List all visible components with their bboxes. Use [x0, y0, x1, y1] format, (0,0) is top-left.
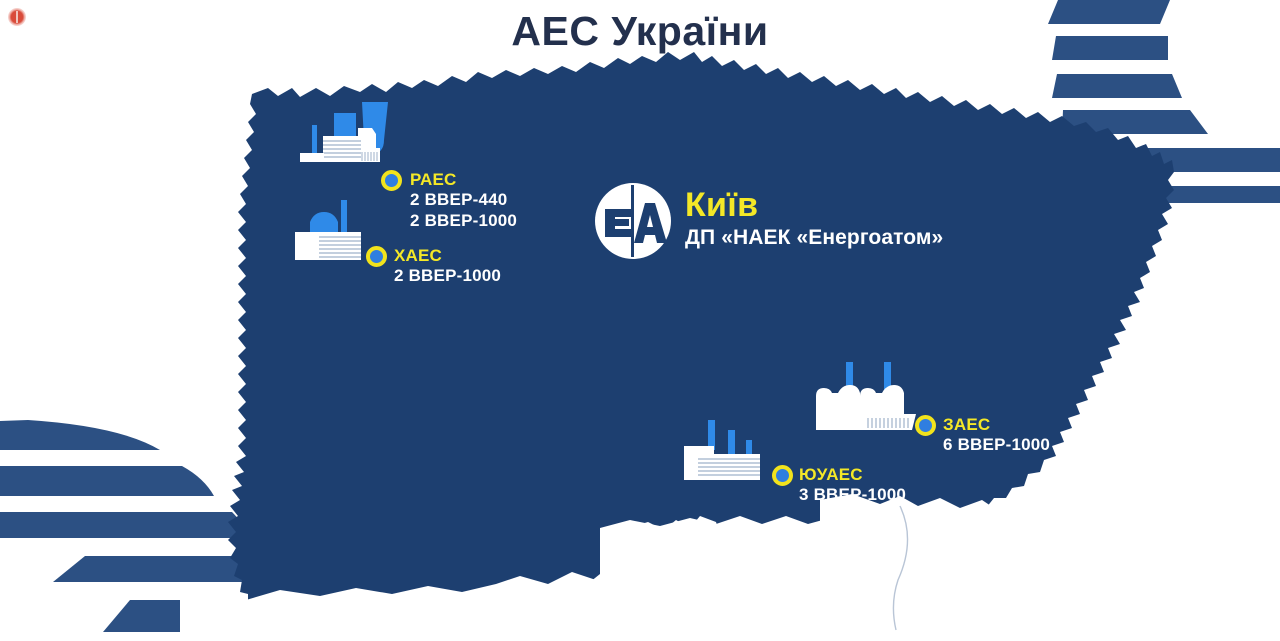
nuclear-plant-reactor-hall-icon: [292, 198, 372, 264]
plant-label-yuuaes: ЮУАЕС 3 ВВЕР-1000: [799, 465, 906, 505]
capital-name: Київ: [685, 187, 943, 223]
ukraine-map: [0, 0, 1280, 641]
plant-units-khaes-1: 2 ВВЕР-1000: [394, 265, 501, 286]
ukraine-map-svg: [0, 0, 1280, 641]
plant-units-raes-2: 2 ВВЕР-1000: [410, 210, 517, 231]
plant-name-raes: РАЕС: [410, 170, 517, 189]
plant-units-raes-1: 2 ВВЕР-440: [410, 189, 517, 210]
plant-units-yuuaes-1: 3 ВВЕР-1000: [799, 484, 906, 505]
plant-label-khaes: ХАЕС 2 ВВЕР-1000: [394, 246, 501, 286]
nuclear-plant-three-stacks-icon: [680, 418, 770, 486]
capital-block: Київ ДП «НАЕК «Енергоатом»: [593, 181, 943, 261]
energoatom-logo: [593, 181, 673, 261]
azov-sea-detail: [820, 494, 1280, 641]
plant-label-zaes: ЗАЕС 6 ВВЕР-1000: [943, 415, 1050, 455]
plant-label-raes: РАЕС 2 ВВЕР-440 2 ВВЕР-1000: [410, 170, 517, 231]
plant-units-zaes-1: 6 ВВЕР-1000: [943, 434, 1050, 455]
map-marker-yuuaes[interactable]: [772, 465, 793, 486]
capital-text: Київ ДП «НАЕК «Енергоатом»: [685, 181, 943, 251]
nuclear-plant-cooling-towers-icon: [296, 100, 392, 180]
nuclear-plant-twin-reactor-icon: [808, 360, 918, 436]
plant-name-zaes: ЗАЕС: [943, 415, 1050, 434]
slide-canvas: АЕС України: [0, 0, 1280, 641]
map-marker-zaes[interactable]: [915, 415, 936, 436]
plant-name-yuuaes: ЮУАЕС: [799, 465, 906, 484]
map-marker-raes[interactable]: [381, 170, 402, 191]
capital-company: ДП «НАЕК «Енергоатом»: [685, 225, 943, 251]
map-marker-khaes[interactable]: [366, 246, 387, 267]
plant-name-khaes: ХАЕС: [394, 246, 501, 265]
